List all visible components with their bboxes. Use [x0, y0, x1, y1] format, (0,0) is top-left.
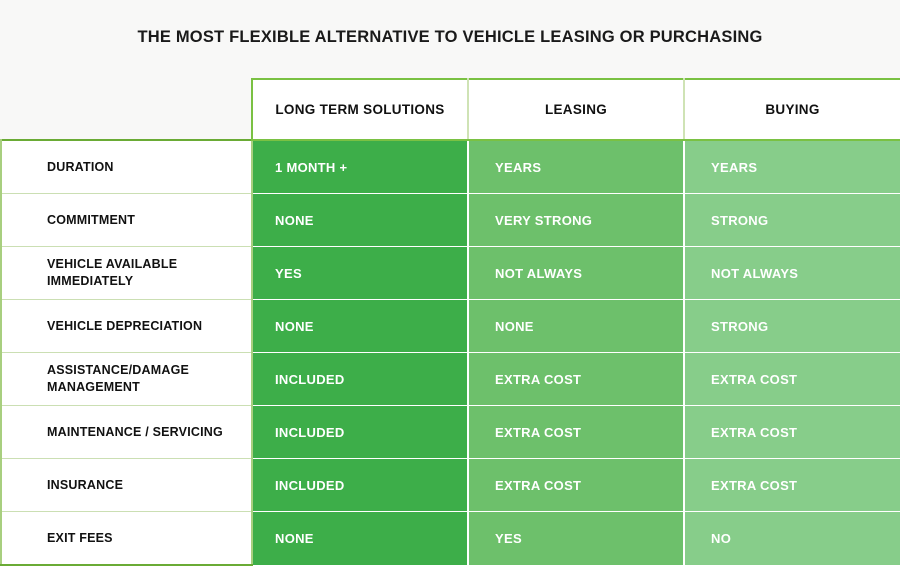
- cell-long-term: NONE: [252, 512, 468, 566]
- cell-buying: NO: [684, 512, 900, 566]
- cell-leasing: YES: [468, 512, 684, 566]
- header-cell-buying: BUYING: [684, 79, 900, 140]
- cell-buying: EXTRA COST: [684, 459, 900, 512]
- header-row: LONG TERM SOLUTIONS LEASING BUYING: [1, 79, 900, 140]
- cell-leasing: NONE: [468, 300, 684, 353]
- cell-buying: EXTRA COST: [684, 406, 900, 459]
- cell-leasing: EXTRA COST: [468, 406, 684, 459]
- cell-leasing: VERY STRONG: [468, 194, 684, 247]
- header-cell-leasing: LEASING: [468, 79, 684, 140]
- cell-long-term: YES: [252, 247, 468, 300]
- cell-long-term: NONE: [252, 300, 468, 353]
- row-label: COMMITMENT: [1, 194, 252, 247]
- cell-leasing: EXTRA COST: [468, 459, 684, 512]
- cell-leasing: EXTRA COST: [468, 353, 684, 406]
- cell-long-term: 1 MONTH +: [252, 140, 468, 194]
- row-label: EXIT FEES: [1, 512, 252, 566]
- cell-buying: YEARS: [684, 140, 900, 194]
- row-label: VEHICLE AVAILABLE IMMEDIATELY: [1, 247, 252, 300]
- row-label: ASSISTANCE/DAMAGE MANAGEMENT: [1, 353, 252, 406]
- table-row: DURATION1 MONTH +YEARSYEARS: [1, 140, 900, 194]
- row-label: INSURANCE: [1, 459, 252, 512]
- header-cell-long-term-solutions: LONG TERM SOLUTIONS: [252, 79, 468, 140]
- table-row: VEHICLE AVAILABLE IMMEDIATELYYESNOT ALWA…: [1, 247, 900, 300]
- row-label: DURATION: [1, 140, 252, 194]
- cell-buying: EXTRA COST: [684, 353, 900, 406]
- table-row: VEHICLE DEPRECIATIONNONENONESTRONG: [1, 300, 900, 353]
- cell-long-term: INCLUDED: [252, 459, 468, 512]
- table-row: INSURANCEINCLUDEDEXTRA COSTEXTRA COST: [1, 459, 900, 512]
- cell-buying: STRONG: [684, 194, 900, 247]
- table-body: DURATION1 MONTH +YEARSYEARSCOMMITMENTNON…: [1, 140, 900, 565]
- table-header: LONG TERM SOLUTIONS LEASING BUYING: [1, 79, 900, 140]
- cell-long-term: INCLUDED: [252, 406, 468, 459]
- table-row: EXIT FEESNONEYESNO: [1, 512, 900, 566]
- row-label: MAINTENANCE / SERVICING: [1, 406, 252, 459]
- cell-buying: NOT ALWAYS: [684, 247, 900, 300]
- page-title: THE MOST FLEXIBLE ALTERNATIVE TO VEHICLE…: [0, 28, 900, 47]
- table-row: ASSISTANCE/DAMAGE MANAGEMENTINCLUDEDEXTR…: [1, 353, 900, 406]
- row-label: VEHICLE DEPRECIATION: [1, 300, 252, 353]
- comparison-table: LONG TERM SOLUTIONS LEASING BUYING DURAT…: [0, 78, 900, 566]
- cell-long-term: NONE: [252, 194, 468, 247]
- table-row: MAINTENANCE / SERVICINGINCLUDEDEXTRA COS…: [1, 406, 900, 459]
- table-row: COMMITMENTNONEVERY STRONGSTRONG: [1, 194, 900, 247]
- cell-buying: STRONG: [684, 300, 900, 353]
- cell-leasing: NOT ALWAYS: [468, 247, 684, 300]
- cell-leasing: YEARS: [468, 140, 684, 194]
- cell-long-term: INCLUDED: [252, 353, 468, 406]
- header-cell-blank: [1, 79, 252, 140]
